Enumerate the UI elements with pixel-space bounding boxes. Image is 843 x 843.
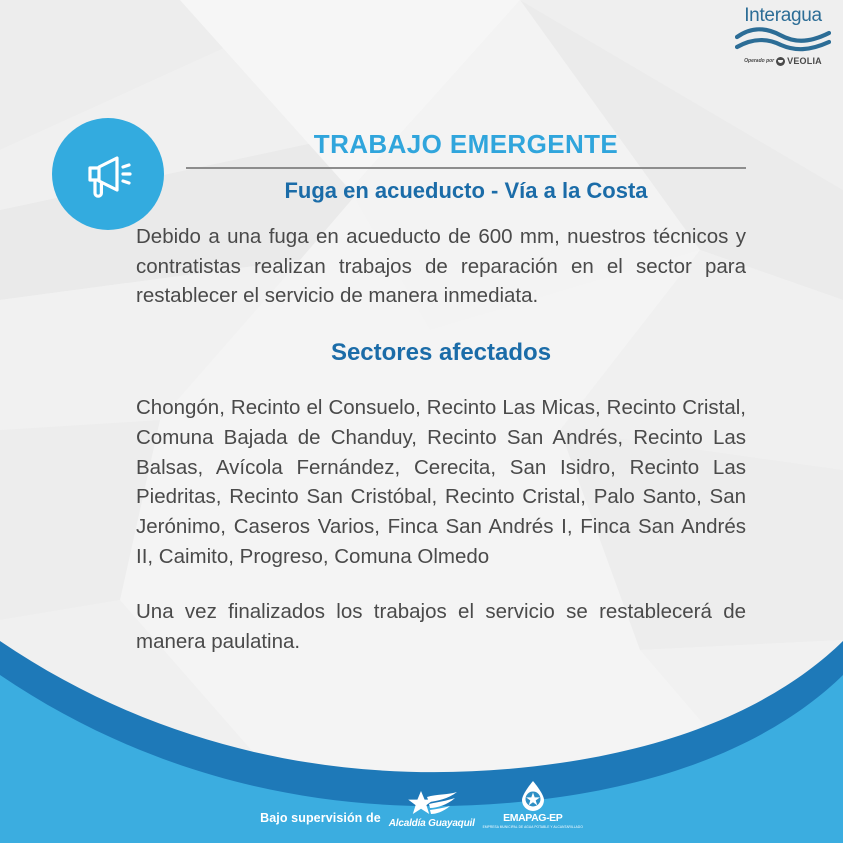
brand-logo-name: Interagua	[731, 6, 835, 25]
megaphone-icon	[77, 143, 139, 205]
veolia-label: VEOLIA	[787, 56, 822, 66]
title-divider	[186, 167, 746, 169]
megaphone-badge	[52, 118, 164, 230]
alcaldia-label: Alcaldía Guayaquil	[389, 818, 475, 829]
footer: Bajo supervisión de Alcaldía Guayaquil E…	[0, 780, 843, 829]
closing-paragraph: Una vez finalizados los trabajos el serv…	[136, 597, 746, 656]
intro-paragraph: Debido a una fuga en acueducto de 600 mm…	[136, 222, 746, 311]
supervision-label: Bajo supervisión de	[260, 811, 381, 829]
brand-logo: Interagua Operado por VEOLIA	[731, 6, 835, 66]
alcaldia-logo: Alcaldía Guayaquil	[389, 789, 475, 829]
alcaldia-star-icon	[405, 789, 459, 819]
emapag-logo: EMAPAG-EP EMPRESA MUNICIPAL DE AGUA POTA…	[483, 780, 583, 829]
interagua-waves-icon	[735, 26, 831, 52]
page-subtitle: Fuga en acueducto - Vía a la Costa	[186, 178, 746, 204]
sectors-heading: Sectores afectados	[136, 339, 746, 367]
sectors-paragraph: Chongón, Recinto el Consuelo, Recinto La…	[136, 393, 746, 571]
emapag-label: EMAPAG-EP	[503, 812, 562, 824]
content: Debido a una fuga en acueducto de 600 mm…	[136, 222, 746, 657]
poster: Interagua Operado por VEOLIA TRABAJO EME…	[0, 0, 843, 843]
emapag-droplet-icon	[519, 780, 547, 812]
emapag-sublabel: EMPRESA MUNICIPAL DE AGUA POTABLE Y ALCA…	[483, 825, 583, 829]
page-title: TRABAJO EMERGENTE	[186, 130, 746, 160]
title-block: TRABAJO EMERGENTE Fuga en acueducto - Ví…	[186, 130, 746, 204]
veolia-mark-icon	[776, 57, 785, 66]
operated-by-row: Operado por VEOLIA	[731, 56, 835, 66]
operated-by-label: Operado por	[744, 58, 774, 64]
